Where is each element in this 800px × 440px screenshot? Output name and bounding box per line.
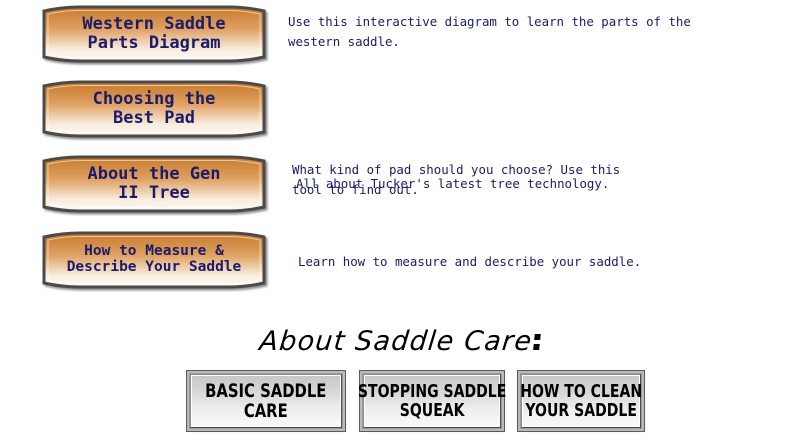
resource-row: How to Measure & Describe Your Saddle Le… [0, 226, 800, 301]
resource-row: About the Gen II Tree All about Tucker's… [0, 150, 800, 225]
gray-button-basic-saddle-care[interactable]: BASIC SADDLE CARE [190, 374, 342, 428]
plaque-description: Learn how to measure and describe your s… [298, 252, 768, 272]
gray-button-label: STOPPING SADDLE SQUEAK [358, 382, 506, 420]
colon-glyph [533, 334, 541, 350]
plaque-shape [36, 80, 272, 138]
plaque-button-choosing-the-best-pad[interactable]: Choosing the Best Pad [36, 80, 272, 138]
plaque-description: All about Tucker's latest tree technolog… [296, 174, 766, 194]
plaque-description: Use this interactive diagram to learn th… [288, 12, 758, 52]
resource-row: Choosing the Best Pad What kind of pad s… [0, 75, 800, 150]
plaque-button-western-saddle-parts-diagram[interactable]: Western Saddle Parts Diagram [36, 5, 272, 63]
saddle-care-heading-text: About Saddle Care [258, 326, 534, 357]
plaque-shape [36, 5, 272, 63]
saddle-care-heading: About Saddle Care [0, 326, 800, 357]
plaque-shape [36, 231, 272, 289]
plaque-shape [36, 155, 272, 213]
gray-button-how-to-clean-your-saddle[interactable]: HOW TO CLEAN YOUR SADDLE [521, 374, 641, 428]
gray-button-label: BASIC SADDLE CARE [205, 381, 326, 421]
plaque-button-how-to-measure-describe-your-saddle[interactable]: How to Measure & Describe Your Saddle [36, 231, 272, 289]
gray-button-stopping-saddle-squeak[interactable]: STOPPING SADDLE SQUEAK [363, 374, 501, 428]
saddle-care-button-group: BASIC SADDLE CARE STOPPING SADDLE SQUEAK… [0, 374, 800, 436]
resource-row: Western Saddle Parts Diagram Use this in… [0, 0, 800, 75]
gray-button-label: HOW TO CLEAN YOUR SADDLE [520, 382, 642, 420]
plaque-button-about-the-gen-ii-tree[interactable]: About the Gen II Tree [36, 155, 272, 213]
